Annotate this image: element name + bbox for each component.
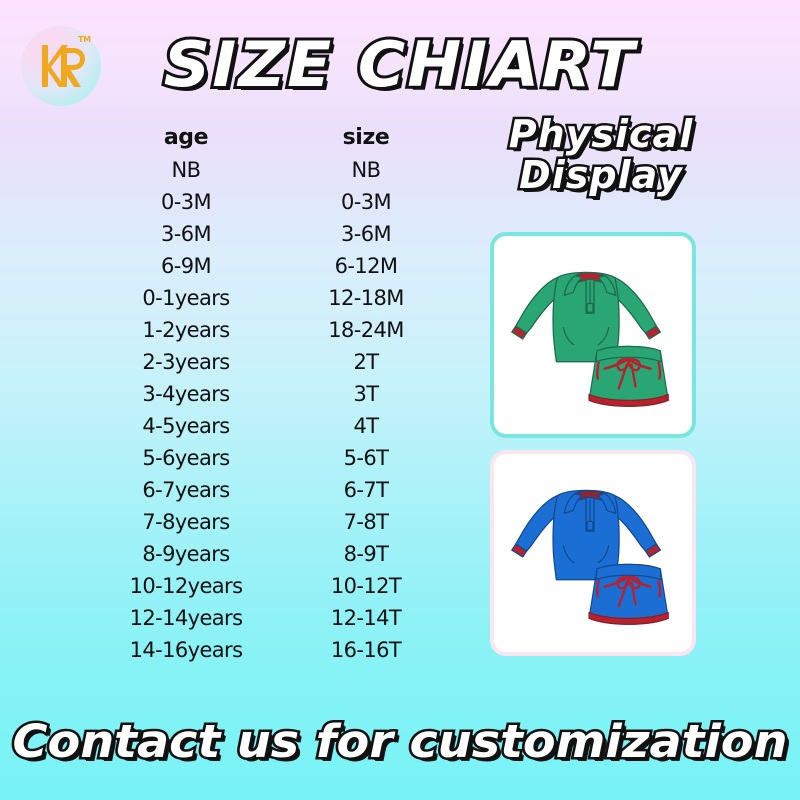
cell-age: 8-9years	[96, 542, 276, 566]
cell-age: 4-5years	[96, 414, 276, 438]
product-photo-blue-outfit	[490, 450, 696, 656]
column-header-size: size	[276, 125, 456, 150]
cell-age: 2-3years	[96, 350, 276, 374]
physical-display-line-2: Display	[468, 155, 734, 196]
cell-age: 14-16years	[96, 638, 276, 662]
cell-age: NB	[96, 158, 276, 182]
table-row: 4-5years 4T	[96, 410, 456, 442]
table-row: 12-14years 12-14T	[96, 602, 456, 634]
table-row: 5-6years 5-6T	[96, 442, 456, 474]
cell-size: 6-7T	[276, 478, 456, 502]
cell-age: 10-12years	[96, 574, 276, 598]
page-title: SIZE CHIART	[0, 32, 800, 98]
cell-size: 16-16T	[276, 638, 456, 662]
table-row: NB NB	[96, 154, 456, 186]
cell-size: 5-6T	[276, 446, 456, 470]
size-table: age size NB NB 0-3M 0-3M 3-6M 3-6M 6-9M …	[96, 120, 456, 666]
table-row: 3-4years 3T	[96, 378, 456, 410]
cell-age: 3-6M	[96, 222, 276, 246]
cell-age: 6-9M	[96, 254, 276, 278]
cell-age: 5-6years	[96, 446, 276, 470]
cell-size: 10-12T	[276, 574, 456, 598]
cell-size: 3T	[276, 382, 456, 406]
table-row: 2-3years 2T	[96, 346, 456, 378]
cell-size: NB	[276, 158, 456, 182]
table-row: 6-7years 6-7T	[96, 474, 456, 506]
table-row: 14-16years 16-16T	[96, 634, 456, 666]
product-photo-green-outfit	[490, 232, 696, 438]
cell-age: 1-2years	[96, 318, 276, 342]
table-row: 1-2years 18-24M	[96, 314, 456, 346]
cell-size: 4T	[276, 414, 456, 438]
column-header-age: age	[96, 125, 276, 150]
table-row: 0-3M 0-3M	[96, 186, 456, 218]
table-row: 7-8years 7-8T	[96, 506, 456, 538]
cell-size: 12-18M	[276, 286, 456, 310]
cell-age: 0-3M	[96, 190, 276, 214]
cell-size: 18-24M	[276, 318, 456, 342]
cell-age: 7-8years	[96, 510, 276, 534]
table-row: 10-12years 10-12T	[96, 570, 456, 602]
table-row: 3-6M 3-6M	[96, 218, 456, 250]
cell-age: 0-1years	[96, 286, 276, 310]
cell-size: 12-14T	[276, 606, 456, 630]
cell-size: 0-3M	[276, 190, 456, 214]
cell-age: 12-14years	[96, 606, 276, 630]
physical-display-line-1: Physical	[468, 114, 734, 155]
cell-size: 8-9T	[276, 542, 456, 566]
cell-size: 3-6M	[276, 222, 456, 246]
cell-age: 3-4years	[96, 382, 276, 406]
cell-size: 7-8T	[276, 510, 456, 534]
table-row: 0-1years 12-18M	[96, 282, 456, 314]
table-row: 8-9years 8-9T	[96, 538, 456, 570]
cell-size: 6-12M	[276, 254, 456, 278]
cell-age: 6-7years	[96, 478, 276, 502]
cell-size: 2T	[276, 350, 456, 374]
blue-outfit-illustration	[494, 454, 692, 652]
table-row: 6-9M 6-12M	[96, 250, 456, 282]
size-chart-poster: TM SIZE CHIART Physical Display age size…	[0, 0, 800, 800]
table-header-row: age size	[96, 120, 456, 154]
physical-display-heading: Physical Display	[468, 114, 734, 196]
contact-banner: Contact us for customization	[0, 716, 800, 768]
green-outfit-illustration	[494, 236, 692, 434]
